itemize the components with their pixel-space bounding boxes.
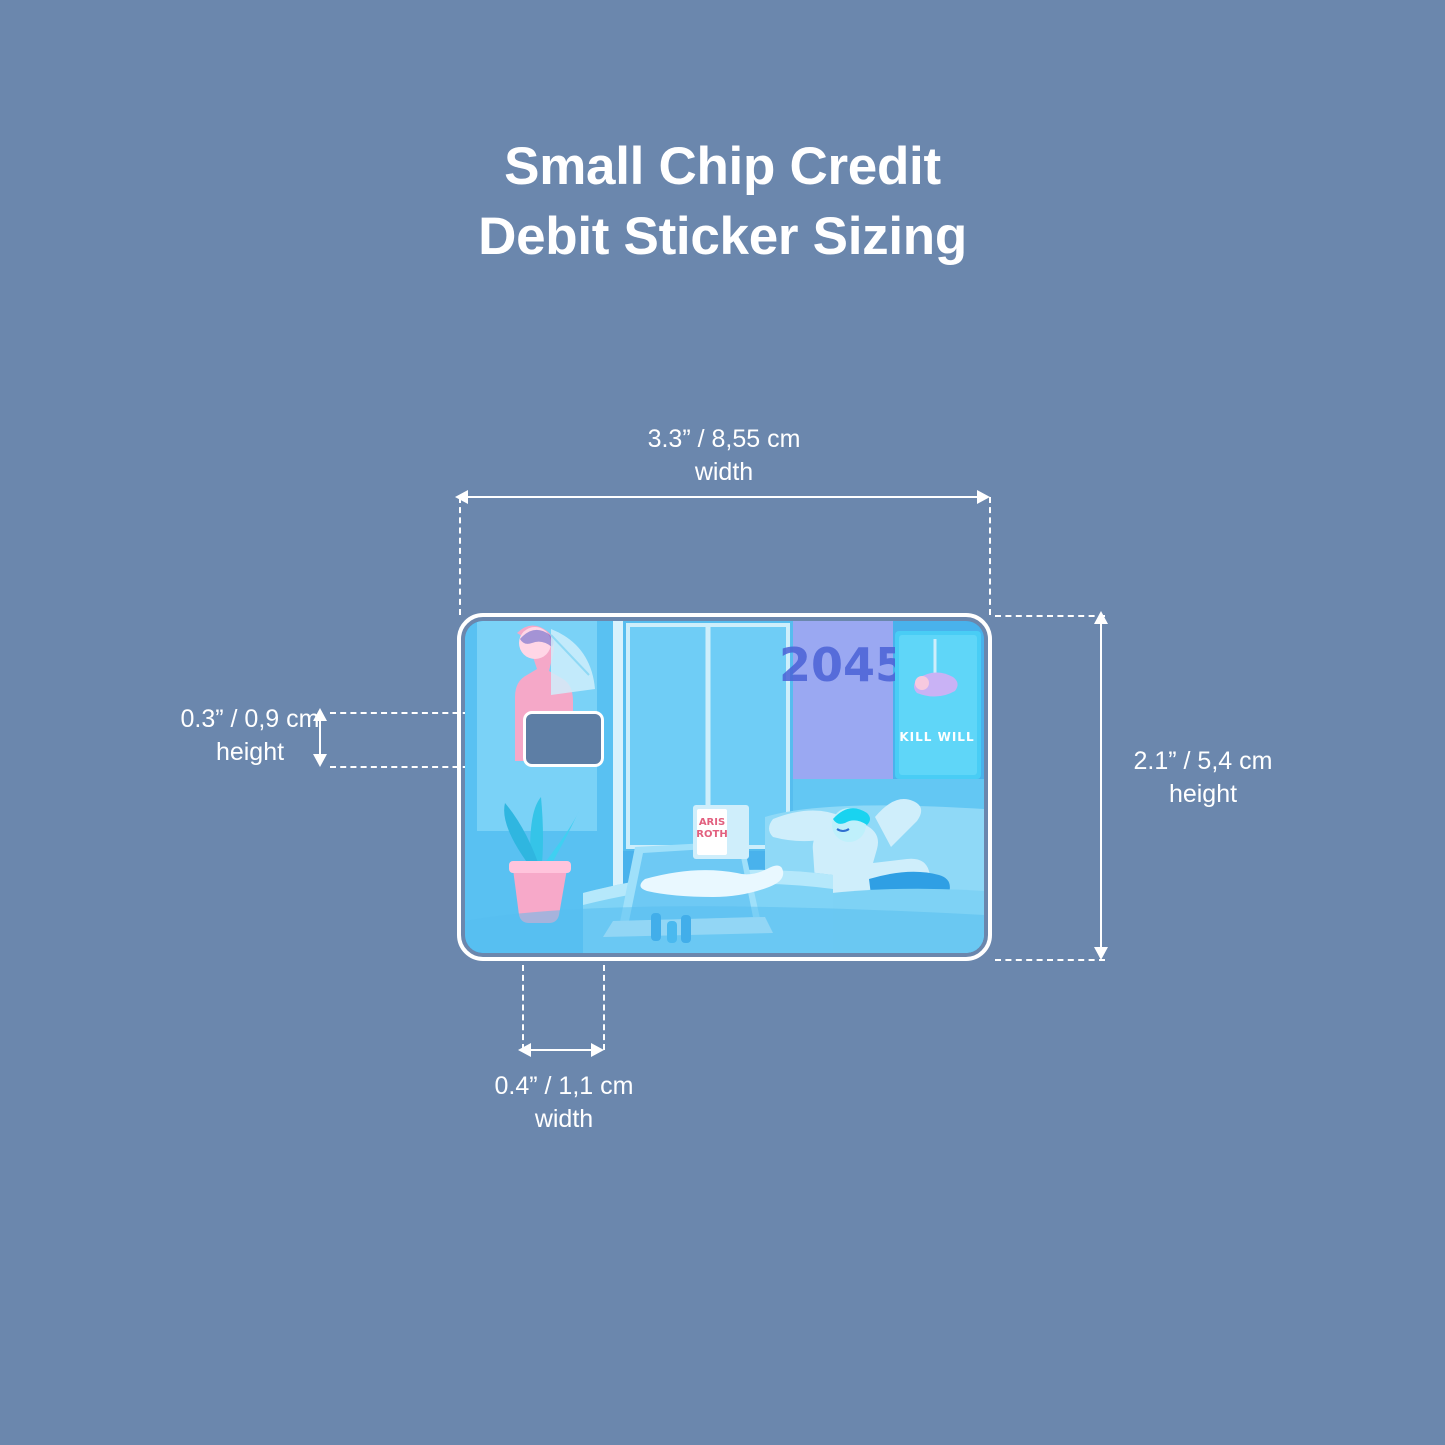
chip-width-arrow-right [591,1043,604,1057]
chip-width-dimension-line [529,1049,596,1051]
card-width-arrow-right [977,490,990,504]
card-height-label: 2.1” / 5,4 cm height [1008,745,1398,811]
chip-width-arrow-left [518,1043,531,1057]
card-height-arrow-up [1094,611,1108,624]
sizing-diagram: Small Chip Credit Debit Sticker Sizing 3… [0,0,1445,1445]
chip-cutout [523,711,604,767]
guide-card-right-top [989,497,991,615]
card-width-label: 3.3” / 8,55 cm width [524,423,924,489]
guide-chip-left-bottom [522,965,524,1050]
card-height-arrow-down [1094,947,1108,960]
guide-card-top-right [995,615,1105,617]
card-outline [457,613,992,961]
chip-width-label: 0.4” / 1,1 cm width [414,1070,714,1136]
card-width-arrow-left [455,490,468,504]
guide-chip-right-bottom [603,965,605,1050]
card-height-dimension-line [1100,622,1102,953]
guide-card-bottom-right [995,959,1105,961]
chip-height-arrow-down [313,754,327,767]
guide-card-left-top [459,497,461,615]
card-width-dimension-line [466,496,983,498]
chip-height-arrow-up [313,708,327,721]
page-title: Small Chip Credit Debit Sticker Sizing [0,132,1445,273]
